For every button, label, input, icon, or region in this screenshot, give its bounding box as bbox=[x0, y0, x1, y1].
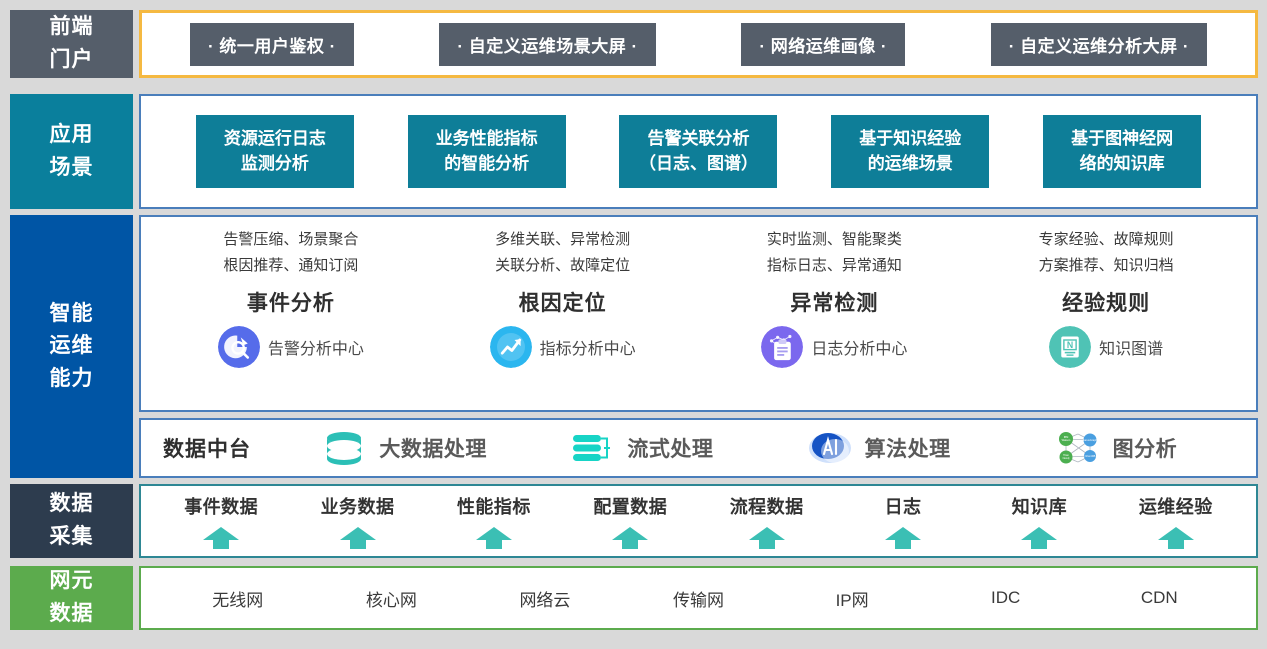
capability-root-cause-title: 根因定位 bbox=[519, 287, 607, 317]
ai-icon bbox=[806, 429, 854, 467]
capability-root-cause-feature-1: 多维关联、异常检测 bbox=[495, 227, 630, 253]
network-element-item-ip[interactable]: IP网 bbox=[775, 586, 929, 611]
portal-chip-unified-auth[interactable]: · 统一用户鉴权 · bbox=[190, 23, 354, 66]
svg-text:Watson: Watson bbox=[1061, 438, 1070, 442]
network-element-item-cdn[interactable]: CDN bbox=[1082, 588, 1236, 608]
row-label-application-line1: 应用 bbox=[50, 119, 94, 152]
log-analysis-icon bbox=[761, 326, 803, 368]
alarm-analysis-icon bbox=[218, 326, 260, 368]
collection-item-ops-experience[interactable]: 运维经验 bbox=[1108, 486, 1244, 556]
database-icon bbox=[320, 429, 368, 467]
app-card-resource-log[interactable]: 资源运行日志 监测分析 bbox=[196, 115, 354, 188]
app-card-knowledge-experience[interactable]: 基于知识经验 的运维场景 bbox=[831, 115, 989, 188]
portal-chip-row: · 统一用户鉴权 · · 自定义运维场景大屏 · · 网络运维画像 · · 自定… bbox=[142, 13, 1255, 75]
collection-item-event[interactable]: 事件数据 bbox=[153, 486, 289, 556]
knowledge-graph-icon: N bbox=[1049, 326, 1091, 368]
app-card-alarm-correlation-line1: 告警关联分析 bbox=[633, 127, 763, 152]
up-arrow-icon bbox=[610, 525, 650, 549]
capability-root-cause-center[interactable]: 指标分析中心 bbox=[490, 326, 636, 368]
portal-chip-network-ops-profile[interactable]: · 网络运维画像 · bbox=[741, 23, 905, 66]
row-label-aiops-line2: 运维 bbox=[50, 330, 94, 363]
collection-item-ops-experience-label: 运维经验 bbox=[1139, 493, 1213, 519]
collection-item-config[interactable]: 配置数据 bbox=[562, 486, 698, 556]
data-platform-item-stream[interactable]: 流式处理 bbox=[522, 429, 759, 467]
capability-anomaly-detection-title: 异常检测 bbox=[790, 287, 878, 317]
data-platform-title: 数据中台 bbox=[163, 433, 251, 463]
collection-item-performance[interactable]: 性能指标 bbox=[426, 486, 562, 556]
capability-experience-rules-feature-1: 专家经验、故障规则 bbox=[1039, 227, 1174, 253]
portal-panel: · 统一用户鉴权 · · 自定义运维场景大屏 · · 网络运维画像 · · 自定… bbox=[139, 10, 1258, 78]
data-platform-item-bigdata-label: 大数据处理 bbox=[379, 433, 487, 463]
data-platform-item-algorithm[interactable]: 算法处理 bbox=[760, 429, 997, 467]
architecture-diagram: 前端 门户 · 统一用户鉴权 · · 自定义运维场景大屏 · · 网络运维画像 … bbox=[0, 0, 1267, 649]
application-card-row: 资源运行日志 监测分析 业务性能指标 的智能分析 告警关联分析 （日志、图谱） … bbox=[141, 96, 1256, 207]
network-element-item-core[interactable]: 核心网 bbox=[315, 586, 469, 611]
up-arrow-icon bbox=[474, 525, 514, 549]
capability-anomaly-detection-center[interactable]: 日志分析中心 bbox=[761, 326, 907, 368]
capability-event-analysis-center[interactable]: 告警分析中心 bbox=[218, 326, 364, 368]
up-arrow-icon bbox=[338, 525, 378, 549]
capability-experience-rules-center-label: 知识图谱 bbox=[1099, 335, 1163, 359]
capability-experience-rules: 专家经验、故障规则 方案推荐、知识归档 经验规则 N 知识图谱 bbox=[970, 227, 1242, 404]
up-arrow-icon bbox=[747, 525, 787, 549]
capability-root-cause: 多维关联、异常检测 关联分析、故障定位 根因定位 指标分析中心 bbox=[427, 227, 699, 404]
app-card-business-kpi-line1: 业务性能指标 bbox=[422, 127, 552, 152]
app-card-knowledge-experience-line2: 的运维场景 bbox=[845, 152, 975, 177]
capability-event-analysis-title: 事件分析 bbox=[247, 287, 335, 317]
row-label-application-line2: 场景 bbox=[50, 152, 94, 185]
row-label-collection: 数据 采集 bbox=[10, 484, 133, 558]
app-card-resource-log-line1: 资源运行日志 bbox=[210, 127, 340, 152]
data-platform-panel: 数据中台 大数据处理 bbox=[139, 418, 1258, 478]
capability-event-analysis: 告警压缩、场景聚合 根因推荐、通知订阅 事件分析 告警分析中心 bbox=[155, 227, 427, 404]
metric-analysis-icon bbox=[490, 326, 532, 368]
capability-experience-rules-center[interactable]: N 知识图谱 bbox=[1049, 326, 1163, 368]
network-element-item-transport[interactable]: 传输网 bbox=[622, 586, 776, 611]
collection-item-knowledge-label: 知识库 bbox=[1012, 493, 1068, 519]
capability-anomaly-detection-feature-1: 实时监测、智能聚类 bbox=[767, 227, 902, 253]
app-card-knowledge-experience-line1: 基于知识经验 bbox=[845, 127, 975, 152]
svg-text:OrientDB: OrientDB bbox=[1084, 454, 1095, 458]
collection-item-config-label: 配置数据 bbox=[593, 493, 667, 519]
row-label-network-element-line2: 数据 bbox=[50, 598, 94, 631]
capability-anomaly-detection-feature-2: 指标日志、异常通知 bbox=[767, 253, 902, 279]
app-card-business-kpi[interactable]: 业务性能指标 的智能分析 bbox=[408, 115, 566, 188]
data-platform-item-stream-label: 流式处理 bbox=[627, 433, 713, 463]
network-element-item-wireless[interactable]: 无线网 bbox=[161, 586, 315, 611]
up-arrow-icon bbox=[883, 525, 923, 549]
network-element-row: 无线网 核心网 网络云 传输网 IP网 IDC CDN bbox=[141, 568, 1256, 628]
up-arrow-icon bbox=[1019, 525, 1059, 549]
row-label-collection-line1: 数据 bbox=[50, 488, 94, 521]
portal-chip-custom-ops-dashboard[interactable]: · 自定义运维场景大屏 · bbox=[439, 23, 655, 66]
capability-experience-rules-feature-2: 方案推荐、知识归档 bbox=[1039, 253, 1174, 279]
row-label-aiops: 智能 运维 能力 bbox=[10, 215, 133, 478]
row-label-network-element-line1: 网元 bbox=[50, 565, 94, 598]
app-card-resource-log-line2: 监测分析 bbox=[210, 152, 340, 177]
collection-item-business[interactable]: 业务数据 bbox=[289, 486, 425, 556]
row-label-network-element: 网元 数据 bbox=[10, 566, 133, 630]
capability-experience-rules-title: 经验规则 bbox=[1062, 287, 1150, 317]
row-label-aiops-line1: 智能 bbox=[50, 298, 94, 331]
stream-icon bbox=[568, 429, 616, 467]
aiops-capability-panel: 告警压缩、场景聚合 根因推荐、通知订阅 事件分析 告警分析中心 bbox=[139, 215, 1258, 412]
row-label-application: 应用 场景 bbox=[10, 94, 133, 209]
data-platform-item-algorithm-label: 算法处理 bbox=[865, 433, 951, 463]
row-label-collection-line2: 采集 bbox=[50, 521, 94, 554]
network-element-panel: 无线网 核心网 网络云 传输网 IP网 IDC CDN bbox=[139, 566, 1258, 630]
up-arrow-icon bbox=[1156, 525, 1196, 549]
svg-text:JanusGraph: JanusGraph bbox=[1083, 438, 1098, 442]
data-platform-item-bigdata[interactable]: 大数据处理 bbox=[285, 429, 522, 467]
app-card-gnn-knowledge-base[interactable]: 基于图神经网 络的知识库 bbox=[1043, 115, 1201, 188]
collection-item-process-label: 流程数据 bbox=[730, 493, 804, 519]
collection-panel: 事件数据 业务数据 性能指标 配置数据 流程数据 日志 bbox=[139, 484, 1258, 558]
app-card-business-kpi-line2: 的智能分析 bbox=[422, 152, 552, 177]
capability-anomaly-detection: 实时监测、智能聚类 指标日志、异常通知 异常检测 bbox=[699, 227, 971, 404]
network-element-item-idc[interactable]: IDC bbox=[929, 588, 1083, 608]
collection-item-process[interactable]: 流程数据 bbox=[699, 486, 835, 556]
network-element-item-cloud[interactable]: 网络云 bbox=[468, 586, 622, 611]
app-card-gnn-knowledge-base-line1: 基于图神经网 bbox=[1057, 127, 1187, 152]
capability-root-cause-feature-2: 关联分析、故障定位 bbox=[495, 253, 630, 279]
collection-item-log-label: 日志 bbox=[885, 493, 922, 519]
portal-chip-custom-analysis-dashboard[interactable]: · 自定义运维分析大屏 · bbox=[991, 23, 1207, 66]
collection-item-event-label: 事件数据 bbox=[184, 493, 258, 519]
data-platform-item-graph-label: 图分析 bbox=[1113, 433, 1178, 463]
collection-item-log[interactable]: 日志 bbox=[835, 486, 971, 556]
capability-anomaly-detection-center-label: 日志分析中心 bbox=[811, 335, 907, 359]
row-label-portal-line2: 门户 bbox=[50, 44, 94, 77]
graph-network-icon: IBMWatson JanusGraph TitanNeo4j OrientDB bbox=[1054, 429, 1102, 467]
row-label-portal: 前端 门户 bbox=[10, 10, 133, 78]
collection-item-business-label: 业务数据 bbox=[321, 493, 395, 519]
data-platform-item-graph[interactable]: IBMWatson JanusGraph TitanNeo4j OrientDB… bbox=[997, 429, 1234, 467]
collection-item-knowledge[interactable]: 知识库 bbox=[971, 486, 1107, 556]
aiops-capability-row: 告警压缩、场景聚合 根因推荐、通知订阅 事件分析 告警分析中心 bbox=[141, 217, 1256, 410]
application-panel: 资源运行日志 监测分析 业务性能指标 的智能分析 告警关联分析 （日志、图谱） … bbox=[139, 94, 1258, 209]
collection-item-performance-label: 性能指标 bbox=[457, 493, 531, 519]
up-arrow-icon bbox=[201, 525, 241, 549]
collection-row: 事件数据 业务数据 性能指标 配置数据 流程数据 日志 bbox=[141, 486, 1256, 556]
capability-root-cause-center-label: 指标分析中心 bbox=[540, 335, 636, 359]
app-card-alarm-correlation[interactable]: 告警关联分析 （日志、图谱） bbox=[619, 115, 777, 188]
data-platform-row: 数据中台 大数据处理 bbox=[141, 420, 1256, 476]
capability-event-analysis-feature-2: 根因推荐、通知订阅 bbox=[223, 253, 358, 279]
app-card-gnn-knowledge-base-line2: 络的知识库 bbox=[1057, 152, 1187, 177]
row-label-aiops-line3: 能力 bbox=[50, 363, 94, 396]
capability-event-analysis-center-label: 告警分析中心 bbox=[268, 335, 364, 359]
capability-event-analysis-feature-1: 告警压缩、场景聚合 bbox=[223, 227, 358, 253]
app-card-alarm-correlation-line2: （日志、图谱） bbox=[633, 152, 763, 177]
row-label-portal-line1: 前端 bbox=[50, 11, 94, 44]
svg-text:Neo4j: Neo4j bbox=[1062, 456, 1069, 460]
svg-text:N: N bbox=[1067, 339, 1073, 349]
